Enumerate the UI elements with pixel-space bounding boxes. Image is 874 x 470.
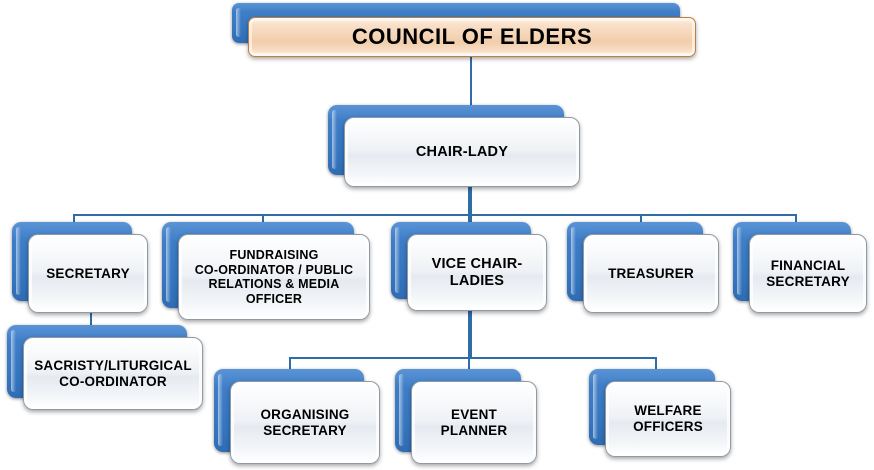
node-label: COUNCIL OF ELDERS [352,24,592,50]
node-label: CHAIR-LADY [416,144,508,161]
node-face: SACRISTY/LITURGICAL CO-ORDINATOR [23,337,203,410]
node-label: WELFARE OFFICERS [633,403,703,434]
node-face: EVENT PLANNER [411,381,537,464]
node-label: SACRISTY/LITURGICAL CO-ORDINATOR [34,358,192,389]
node-council-of-elders[interactable]: COUNCIL OF ELDERS [232,3,696,57]
node-face: WELFARE OFFICERS [605,381,731,457]
node-face: ORGANISING SECRETARY [230,381,380,464]
node-vice-chair-ladies[interactable]: VICE CHAIR- LADIES [391,222,547,311]
node-organising-secretary[interactable]: ORGANISING SECRETARY [214,369,380,464]
node-face: FUNDRAISING CO-ORDINATOR / PUBLIC RELATI… [178,234,370,320]
node-face: VICE CHAIR- LADIES [407,234,547,311]
node-face: SECRETARY [28,234,148,313]
node-welfare-officers[interactable]: WELFARE OFFICERS [589,369,731,457]
node-financial-secretary[interactable]: FINANCIAL SECRETARY [733,222,867,313]
node-secretary[interactable]: SECRETARY [12,222,148,313]
node-label: EVENT PLANNER [441,407,508,438]
connector-level3-bus [289,357,656,359]
node-label: FUNDRAISING CO-ORDINATOR / PUBLIC RELATI… [195,248,354,306]
connector-level2-bus [73,214,797,216]
connector-root-to-chairlady [470,53,472,105]
node-label: VICE CHAIR- LADIES [432,256,523,290]
node-label: ORGANISING SECRETARY [260,407,349,438]
node-chair-lady[interactable]: CHAIR-LADY [328,105,580,187]
node-face: CHAIR-LADY [344,117,580,187]
node-face: TREASURER [583,234,719,313]
org-chart-canvas: COUNCIL OF ELDERS CHAIR-LADY SECRETARY F… [0,0,874,470]
node-fundraising-coordinator[interactable]: FUNDRAISING CO-ORDINATOR / PUBLIC RELATI… [162,222,370,320]
connector-vicechair-stem [468,310,472,358]
node-treasurer[interactable]: TREASURER [567,222,719,313]
node-event-planner[interactable]: EVENT PLANNER [395,369,537,464]
node-label: TREASURER [608,266,694,282]
node-face: FINANCIAL SECRETARY [749,234,867,313]
node-sacristy-liturgical-coordinator[interactable]: SACRISTY/LITURGICAL CO-ORDINATOR [7,325,203,410]
node-face: COUNCIL OF ELDERS [248,17,696,57]
connector-chairlady-stem [468,186,472,216]
node-label: FINANCIAL SECRETARY [766,258,850,289]
node-label: SECRETARY [46,266,130,282]
